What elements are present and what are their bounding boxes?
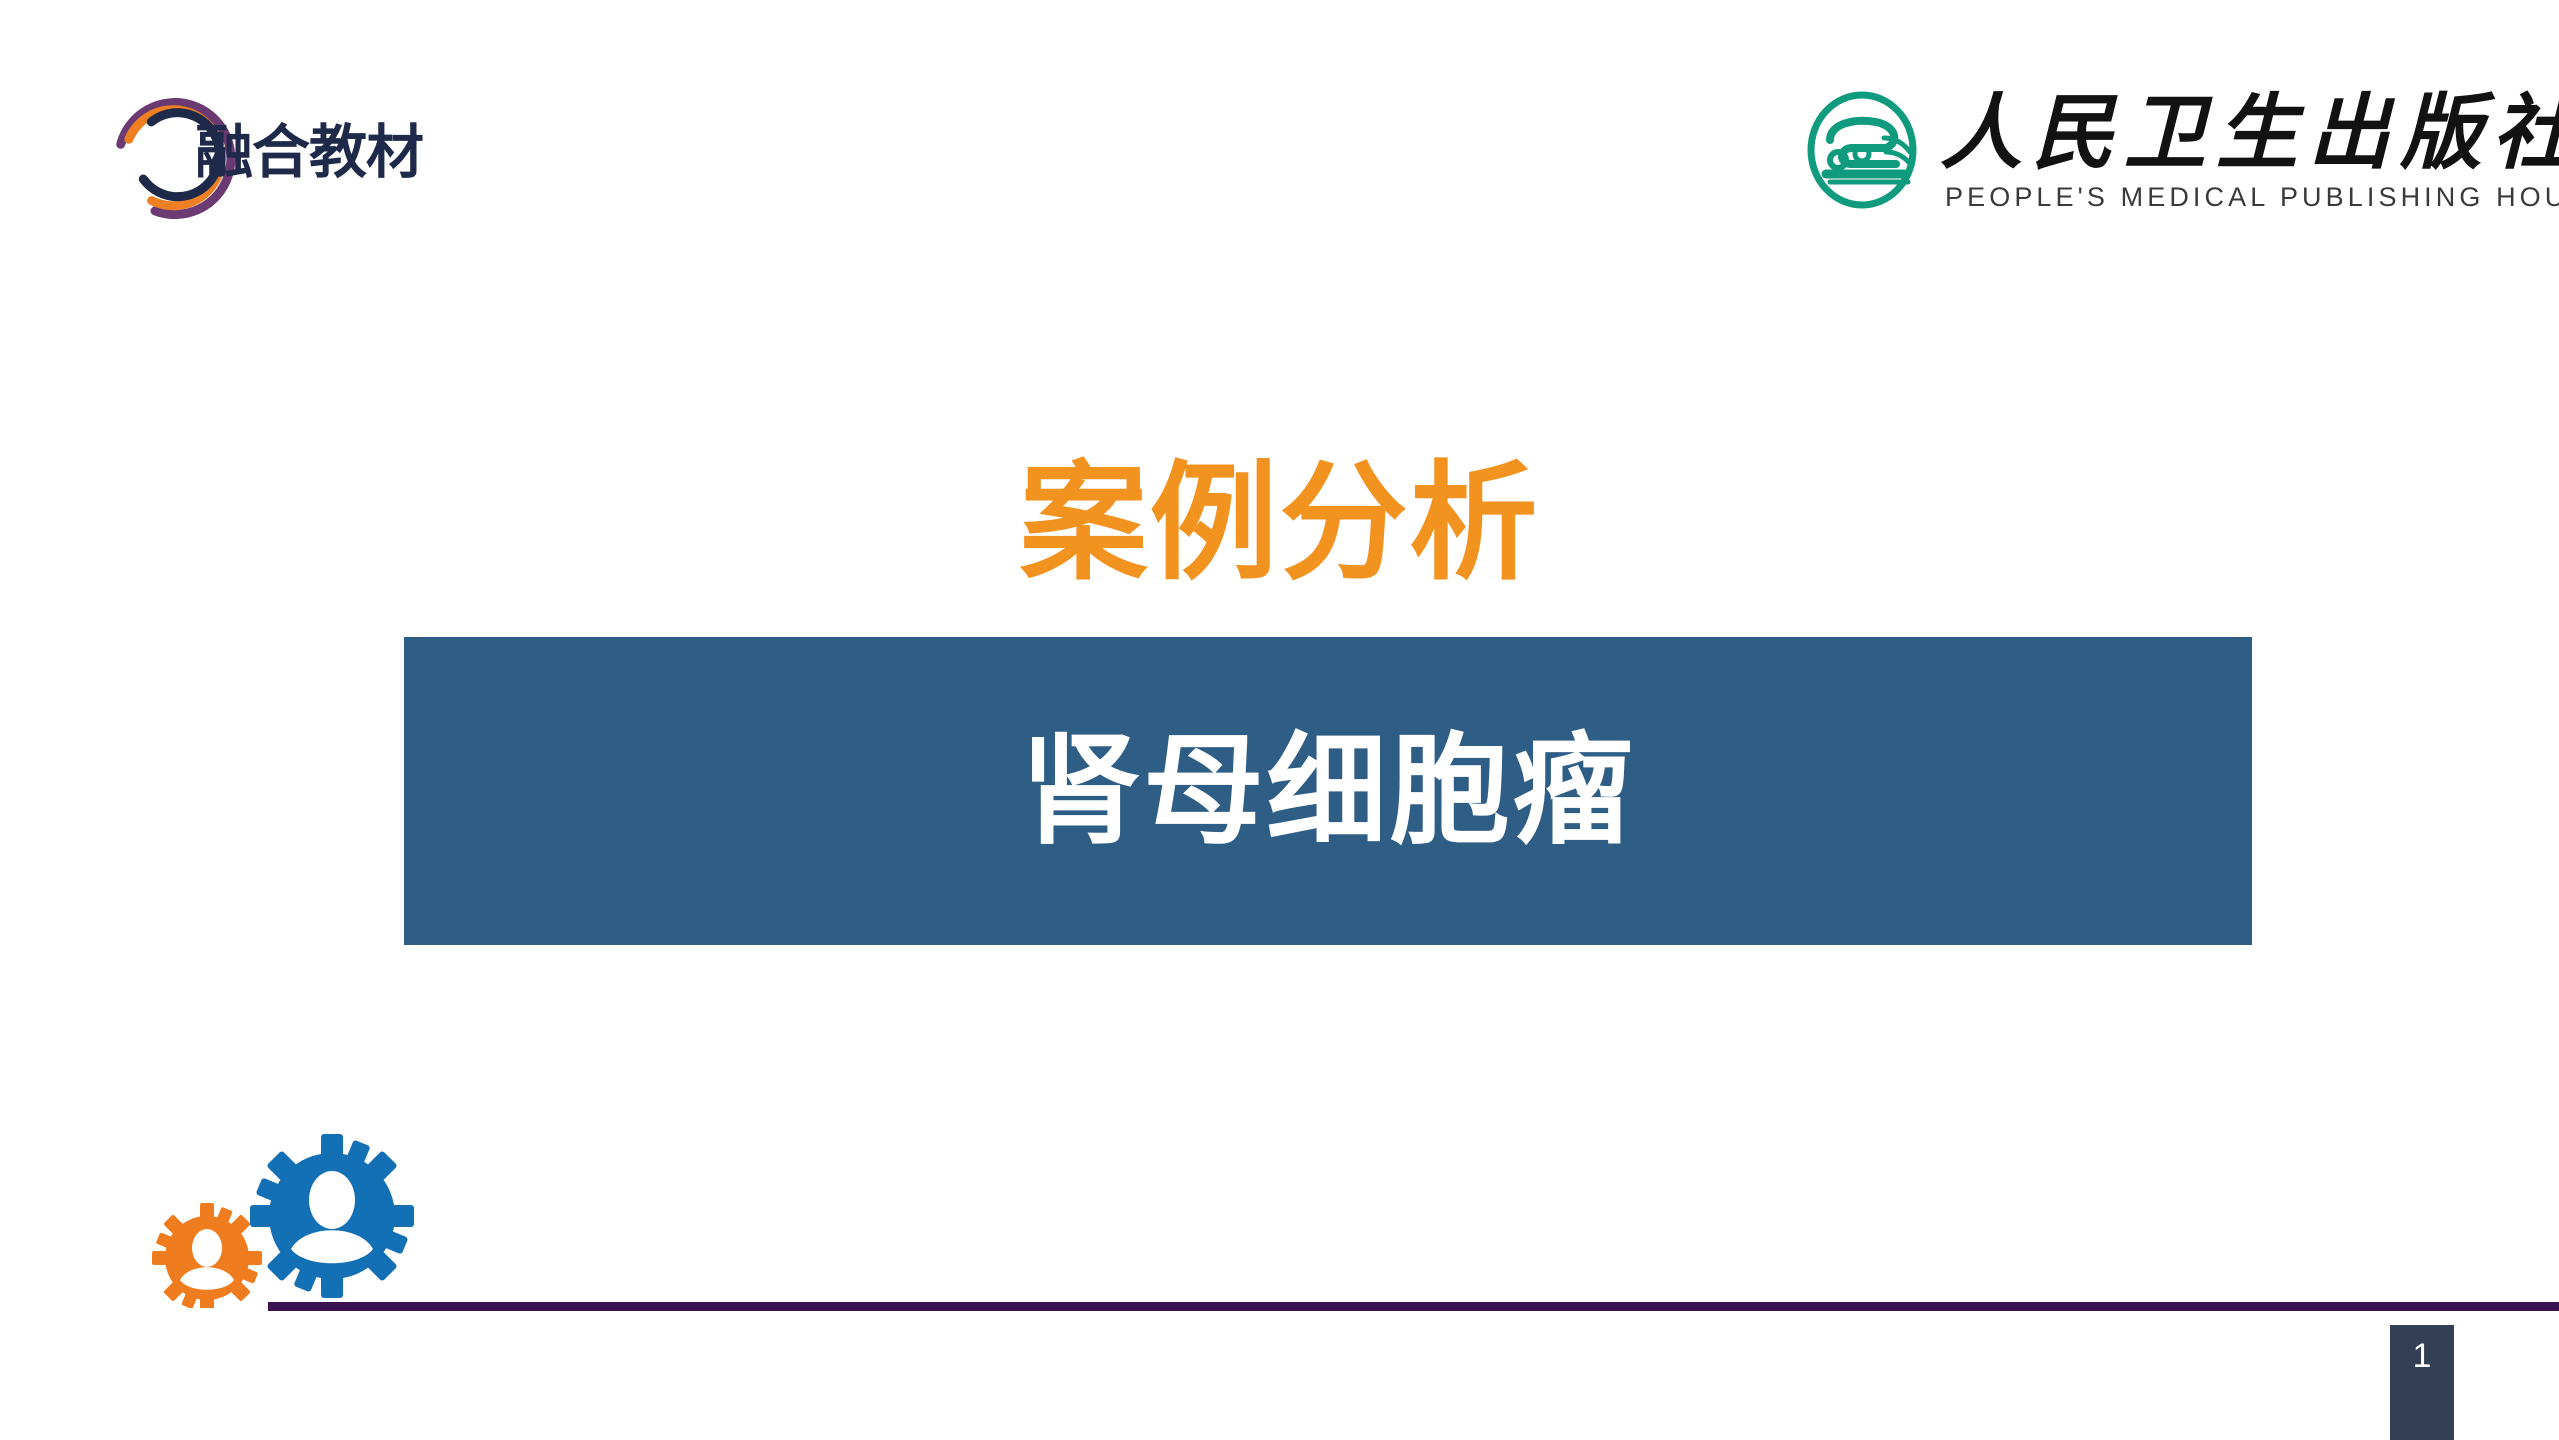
page-number: 1	[2390, 1339, 2454, 1373]
publisher-logo: 人民卫生出版社 PEOPLE'S MEDICAL PUBLISHING HOUS…	[1800, 88, 2500, 218]
page-number-badge: 1	[2390, 1325, 2454, 1440]
subtitle-banner: 肾母细胞瘤	[404, 637, 2252, 945]
pmph-emblem-icon	[1800, 90, 1925, 210]
slide-canvas: 融合教材 人民卫生出版社 PEOPLE'S MEDICAL PUBLISHING…	[0, 0, 2559, 1440]
brand-logo: 融合教材	[110, 88, 410, 228]
subtitle-text: 肾母细胞瘤	[404, 637, 2252, 945]
gears-people-icon	[140, 1128, 430, 1308]
publisher-name-cn: 人民卫生出版社	[1940, 86, 2559, 183]
publisher-name-en: PEOPLE'S MEDICAL PUBLISHING HOUSE	[1945, 184, 2559, 211]
footer-divider	[268, 1302, 2559, 1311]
page-title: 案例分析	[0, 452, 2559, 595]
brand-logo-label: 融合教材	[195, 124, 423, 182]
